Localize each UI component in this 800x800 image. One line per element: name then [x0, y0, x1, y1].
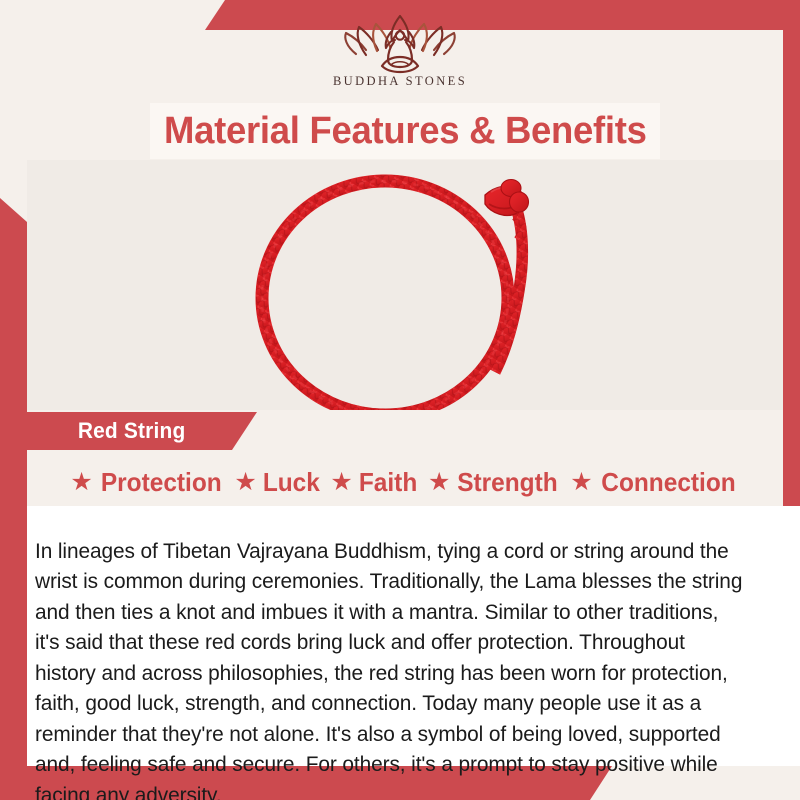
- benefit-item-connection: ★ Connection: [570, 467, 739, 498]
- brand-header: BUDDHA STONES: [0, 0, 800, 103]
- benefit-item-faith: ★ Faith: [330, 467, 419, 498]
- star-icon: ★: [330, 470, 352, 495]
- benefit-label: Faith: [359, 467, 417, 498]
- star-icon: ★: [428, 470, 450, 495]
- lotus-meditation-icon: [330, 10, 470, 76]
- decorative-left-bar: [0, 198, 27, 788]
- product-label-text: Red String: [78, 418, 186, 444]
- title-band: Material Features & Benefits: [150, 103, 660, 159]
- star-icon: ★: [570, 470, 592, 495]
- description-card: In lineages of Tibetan Vajrayana Buddhis…: [27, 506, 800, 766]
- benefit-label: Strength: [458, 467, 558, 498]
- benefits-row: ★ Protection ★ Luck ★ Faith ★ Strength ★…: [27, 458, 783, 506]
- product-image-stage: [27, 160, 783, 410]
- red-string-bracelet-image: [223, 160, 573, 410]
- benefit-label: Connection: [601, 467, 735, 498]
- benefit-item-luck: ★ Luck: [234, 467, 321, 498]
- star-icon: ★: [234, 470, 256, 495]
- benefit-label: Luck: [263, 467, 320, 498]
- infographic-poster: BUDDHA STONES Material Features & Benefi…: [0, 0, 800, 800]
- benefit-label: Protection: [101, 467, 222, 498]
- benefit-item-strength: ★ Strength: [428, 467, 561, 498]
- product-label-banner: Red String: [27, 412, 257, 450]
- description-text: In lineages of Tibetan Vajrayana Buddhis…: [35, 536, 748, 800]
- brand-name: BUDDHA STONES: [333, 74, 467, 89]
- star-icon: ★: [70, 470, 92, 495]
- page-title: Material Features & Benefits: [164, 110, 647, 153]
- benefit-item-protection: ★ Protection: [70, 467, 225, 498]
